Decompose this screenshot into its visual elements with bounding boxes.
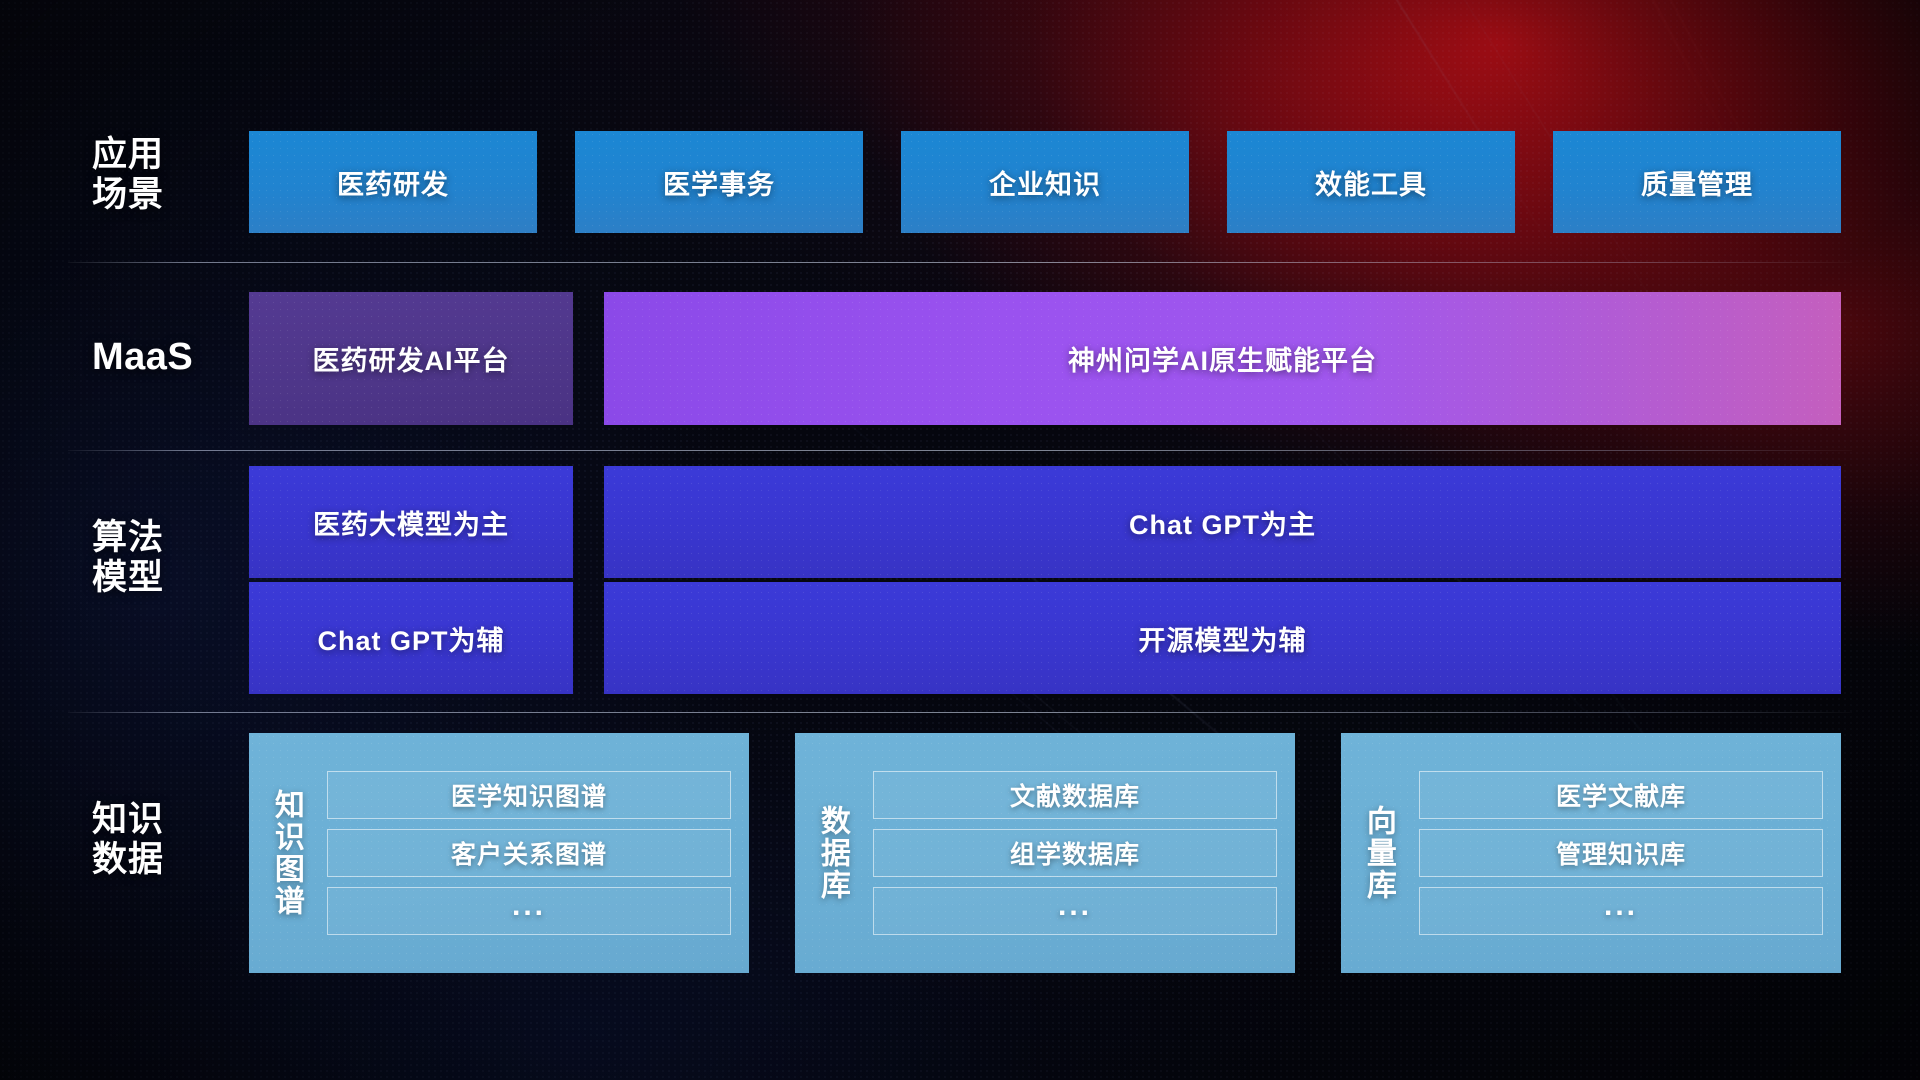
knowledge-item[interactable]: 文献数据库 — [873, 771, 1277, 819]
app-cell-label: 医学事务 — [663, 163, 775, 202]
knowledge-item[interactable]: 组学数据库 — [873, 829, 1277, 877]
algo-cell-label: Chat GPT为主 — [1129, 503, 1316, 542]
knowledge-item-more[interactable]: ... — [327, 887, 731, 935]
row-label-algorithm: 算法 模型 — [92, 518, 242, 598]
knowledge-item[interactable]: 管理知识库 — [1419, 829, 1823, 877]
knowledge-item[interactable]: 医学知识图谱 — [327, 771, 731, 819]
knowledge-panel-2-vertical-label: 向量库 — [1341, 733, 1415, 973]
app-cell-3[interactable]: 效能工具 — [1227, 131, 1515, 233]
maas-right-label: 神州问学AI原生赋能平台 — [1068, 339, 1377, 378]
row-divider-2 — [68, 450, 1852, 451]
knowledge-panel-0-vertical-label: 知识图谱 — [249, 733, 323, 973]
architecture-diagram: 应用 场景 医药研发 医学事务 企业知识 效能工具 质量管理 MaaS 医药研发… — [0, 0, 1920, 1080]
knowledge-panel-2-items: 医学文献库 管理知识库 ... — [1415, 733, 1841, 973]
maas-left-cell[interactable]: 医药研发AI平台 — [249, 292, 573, 425]
row-label-application: 应用 场景 — [92, 135, 242, 215]
knowledge-panel-1-vertical-label: 数据库 — [795, 733, 869, 973]
row-divider-1 — [68, 262, 1852, 263]
knowledge-item-more[interactable]: ... — [1419, 887, 1823, 935]
algo-cell-label: 医药大模型为主 — [313, 503, 509, 542]
app-cell-label: 医药研发 — [337, 163, 449, 202]
knowledge-panel-2[interactable]: 向量库 医学文献库 管理知识库 ... — [1341, 733, 1841, 973]
row-label-maas: MaaS — [92, 336, 242, 379]
knowledge-panel-1[interactable]: 数据库 文献数据库 组学数据库 ... — [795, 733, 1295, 973]
knowledge-item[interactable]: 客户关系图谱 — [327, 829, 731, 877]
app-cell-2[interactable]: 企业知识 — [901, 131, 1189, 233]
algo-cell-r0-left[interactable]: 医药大模型为主 — [249, 466, 573, 578]
app-cell-1[interactable]: 医学事务 — [575, 131, 863, 233]
algo-cell-label: Chat GPT为辅 — [317, 619, 504, 658]
knowledge-item-more[interactable]: ... — [873, 887, 1277, 935]
knowledge-panel-0-items: 医学知识图谱 客户关系图谱 ... — [323, 733, 749, 973]
app-cell-label: 企业知识 — [989, 163, 1101, 202]
knowledge-item[interactable]: 医学文献库 — [1419, 771, 1823, 819]
algo-cell-r1-right[interactable]: 开源模型为辅 — [604, 582, 1841, 694]
algo-cell-r0-right[interactable]: Chat GPT为主 — [604, 466, 1841, 578]
row-divider-3 — [68, 712, 1852, 713]
app-cell-0[interactable]: 医药研发 — [249, 131, 537, 233]
knowledge-panel-1-items: 文献数据库 组学数据库 ... — [869, 733, 1295, 973]
app-cell-label: 质量管理 — [1641, 163, 1753, 202]
maas-right-cell[interactable]: 神州问学AI原生赋能平台 — [604, 292, 1841, 425]
app-cell-label: 效能工具 — [1315, 163, 1427, 202]
app-cell-4[interactable]: 质量管理 — [1553, 131, 1841, 233]
row-label-knowledge: 知识 数据 — [92, 800, 242, 880]
knowledge-panel-0[interactable]: 知识图谱 医学知识图谱 客户关系图谱 ... — [249, 733, 749, 973]
maas-left-label: 医药研发AI平台 — [313, 339, 510, 378]
algo-cell-label: 开源模型为辅 — [1139, 619, 1307, 658]
algo-cell-r1-left[interactable]: Chat GPT为辅 — [249, 582, 573, 694]
